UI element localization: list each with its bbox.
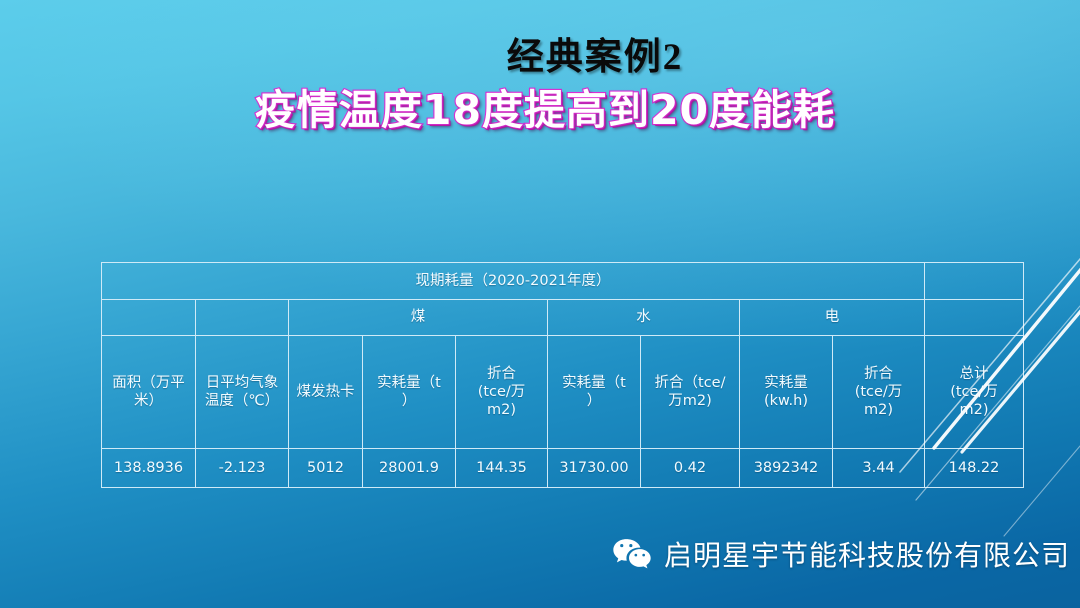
consumption-table: 现期耗量（2020-2021年度） 煤 水 电 面积（万平 米） bbox=[101, 262, 1024, 488]
column-header-water-actual: 实耗量（t ） bbox=[548, 336, 641, 449]
group-blank-total bbox=[925, 300, 1024, 336]
consumption-table-container: 现期耗量（2020-2021年度） 煤 水 电 面积（万平 米） bbox=[101, 262, 1023, 488]
cell-electricity-actual: 3892342 bbox=[740, 449, 833, 488]
column-header-avg-temperature: 日平均气象 温度（℃） bbox=[196, 336, 289, 449]
cell-coal-equivalent: 144.35 bbox=[456, 449, 548, 488]
footer-watermark: 启明星宇节能科技股份有限公司 bbox=[612, 534, 1070, 574]
header-current-period: 现期耗量（2020-2021年度） bbox=[102, 263, 925, 300]
cell-electricity-equivalent: 3.44 bbox=[833, 449, 925, 488]
group-coal: 煤 bbox=[289, 300, 548, 336]
wechat-icon bbox=[612, 537, 652, 571]
table-header-row-period: 现期耗量（2020-2021年度） bbox=[102, 263, 1024, 300]
header-period-blank bbox=[925, 263, 1024, 300]
column-header-area: 面积（万平 米） bbox=[102, 336, 196, 449]
page-title: 经典案例2 bbox=[110, 38, 1080, 79]
page-subtitle: 疫情温度18度提高到20度能耗 bbox=[10, 87, 1080, 134]
column-header-coal-equivalent: 折合 (tce/万 m2) bbox=[456, 336, 548, 449]
cell-water-actual: 31730.00 bbox=[548, 449, 641, 488]
cell-area: 138.8936 bbox=[102, 449, 196, 488]
column-header-water-equivalent: 折合（tce/ 万m2) bbox=[641, 336, 740, 449]
column-header-electricity-actual: 实耗量 (kw.h) bbox=[740, 336, 833, 449]
group-electricity: 电 bbox=[740, 300, 925, 336]
table-row: 138.8936 -2.123 5012 28001.9 144.35 3173… bbox=[102, 449, 1024, 488]
column-header-total: 总计 (tce/万 m2) bbox=[925, 336, 1024, 449]
cell-coal-calorific: 5012 bbox=[289, 449, 363, 488]
slide-canvas: 经典案例2 疫情温度18度提高到20度能耗 bbox=[0, 0, 1080, 608]
title-block: 经典案例2 疫情温度18度提高到20度能耗 bbox=[0, 38, 1080, 134]
cell-coal-actual: 28001.9 bbox=[363, 449, 456, 488]
column-header-coal-actual: 实耗量（t ） bbox=[363, 336, 456, 449]
cell-avg-temperature: -2.123 bbox=[196, 449, 289, 488]
table-header-row-groups: 煤 水 电 bbox=[102, 300, 1024, 336]
group-water: 水 bbox=[548, 300, 740, 336]
column-header-electricity-equivalent: 折合 (tce/万 m2) bbox=[833, 336, 925, 449]
group-blank-area bbox=[102, 300, 196, 336]
column-header-coal-calorific: 煤发热卡 bbox=[289, 336, 363, 449]
cell-total: 148.22 bbox=[925, 449, 1024, 488]
group-blank-temp bbox=[196, 300, 289, 336]
footer-company-name: 启明星宇节能科技股份有限公司 bbox=[664, 534, 1070, 574]
cell-water-equivalent: 0.42 bbox=[641, 449, 740, 488]
table-header-row-columns: 面积（万平 米） 日平均气象 温度（℃） 煤发热卡 实耗量（t ） bbox=[102, 336, 1024, 449]
